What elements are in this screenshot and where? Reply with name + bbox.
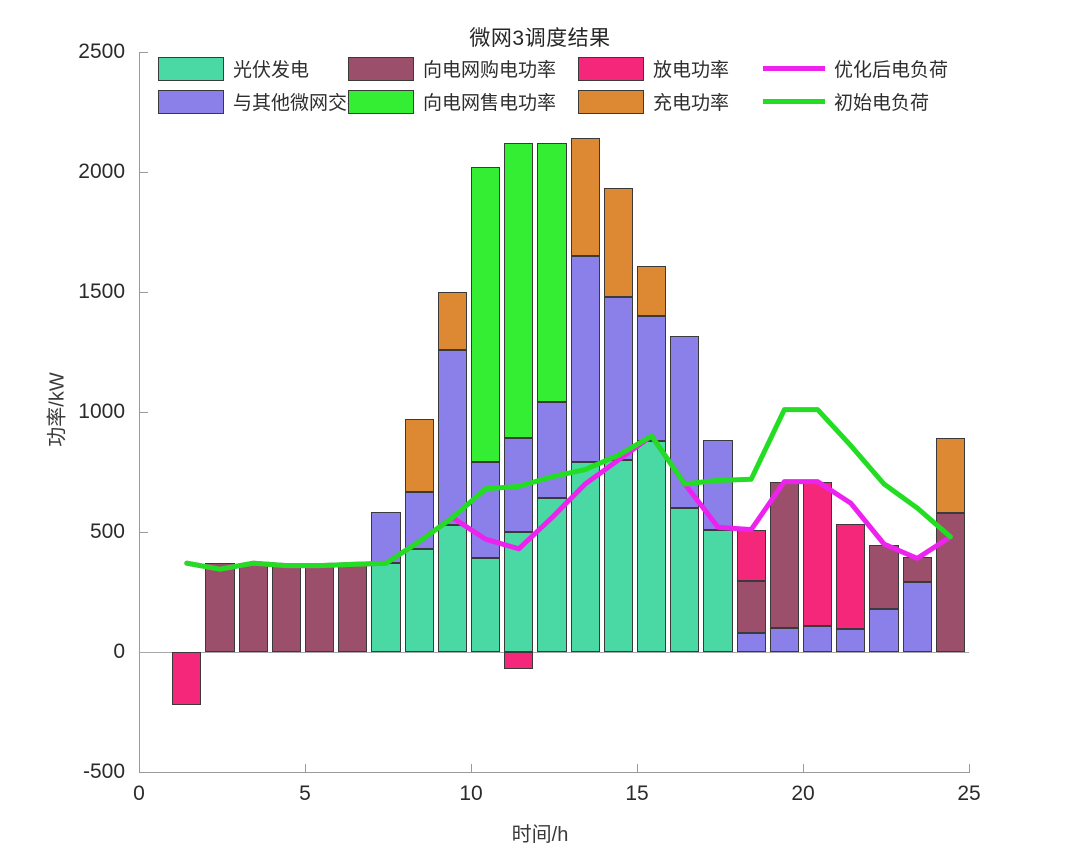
legend-swatch-icon [348, 57, 414, 81]
legend-item: 与其他微网交换功率 [158, 88, 348, 115]
y-tick-label: 1500 [33, 280, 125, 304]
legend-label: 初始电负荷 [834, 88, 929, 115]
x-axis-title: 时间/h [0, 818, 1080, 847]
load-line [187, 436, 951, 569]
y-axis-title: 功率/kW [41, 330, 70, 490]
legend-swatch-icon [578, 90, 644, 114]
legend-item: 优化后电负荷 [763, 55, 1063, 82]
legend-item: 向电网购电功率 [348, 55, 578, 82]
x-tick-mark [969, 764, 970, 773]
legend-label: 向电网购电功率 [423, 55, 556, 82]
y-tick-label: -500 [33, 760, 125, 784]
legend-line-icon [763, 99, 825, 104]
legend-swatch-icon [578, 57, 644, 81]
legend-label: 光伏发电 [233, 55, 309, 82]
line-layer [139, 52, 969, 772]
legend-label: 充电功率 [653, 88, 729, 115]
chart-legend: 光伏发电向电网购电功率放电功率优化后电负荷与其他微网交换功率向电网售电功率充电功… [158, 52, 1063, 118]
y-tick-label: 500 [33, 520, 125, 544]
legend-item: 光伏发电 [158, 55, 348, 82]
legend-line-icon [763, 66, 825, 71]
legend-label: 优化后电负荷 [834, 55, 948, 82]
legend-item: 放电功率 [578, 55, 763, 82]
x-tick-label: 20 [773, 782, 833, 806]
legend-swatch-icon [348, 90, 414, 114]
y-tick-label: 2500 [33, 40, 125, 64]
legend-label: 向电网售电功率 [423, 88, 556, 115]
load-line [187, 410, 951, 570]
x-tick-label: 10 [441, 782, 501, 806]
y-tick-label: 0 [33, 640, 125, 664]
chart-title: 微网3调度结果 [0, 22, 1080, 52]
legend-label: 放电功率 [653, 55, 729, 82]
legend-swatch-icon [158, 57, 224, 81]
legend-swatch-icon [158, 90, 224, 114]
x-tick-label: 15 [607, 782, 667, 806]
legend-item: 充电功率 [578, 88, 763, 115]
legend-item: 向电网售电功率 [348, 88, 578, 115]
legend-item: 初始电负荷 [763, 88, 1063, 115]
x-tick-label: 25 [939, 782, 999, 806]
x-tick-label: 0 [109, 782, 169, 806]
x-tick-label: 5 [275, 782, 335, 806]
x-axis-line [139, 772, 969, 773]
y-tick-mark [139, 772, 148, 773]
chart-figure: 微网3调度结果 25002000150010005000-500 0510152… [0, 0, 1080, 862]
y-tick-label: 2000 [33, 160, 125, 184]
